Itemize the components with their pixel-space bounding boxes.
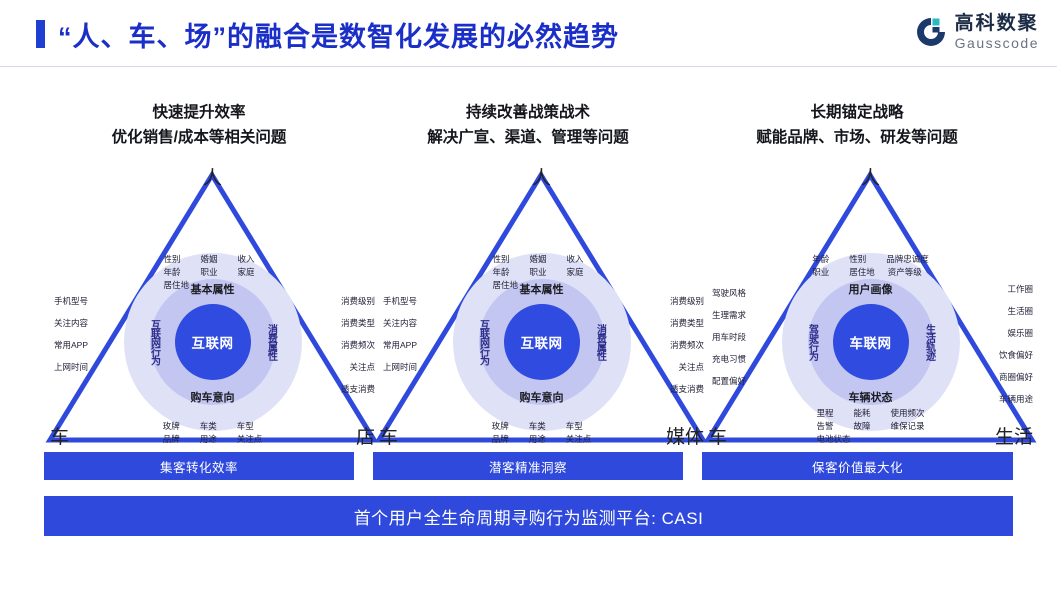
- sat-text: 居住地: [849, 266, 875, 279]
- heading-2-line-2: 解决广宣、渠道、管理等问题: [373, 125, 683, 150]
- sat-text: 职业: [530, 266, 554, 279]
- sat-text: 车型: [237, 420, 261, 433]
- result-bar-1: 集客转化效率: [44, 452, 354, 480]
- sat-text: 品牌忠诚度: [886, 253, 929, 266]
- heading-3-line-1: 长期锚定战略: [810, 104, 903, 121]
- ring-label-right-3: 生活轨迹: [922, 324, 937, 360]
- sat-text: 品牌: [492, 433, 516, 446]
- heading-3-line-2: 赋能品牌、市场、研发等问题: [702, 125, 1012, 150]
- logo-chinese-name: 高科数聚: [955, 14, 1039, 33]
- satellites-top-3: 年龄性别品牌忠诚度 职业居住地资产等级: [812, 253, 929, 279]
- ring-label-bottom-1: 购车意向: [191, 389, 235, 405]
- panel-2: 人 车 媒体 互联网+车 互联网 基本属性 购车意向 互联网行为 消费属性 性别…: [373, 165, 710, 450]
- triangle-1-corner-top: 人: [203, 163, 222, 190]
- sat-text: 维保记录: [890, 420, 924, 433]
- panel-3: 人 车 生活 互联网+车 车联网 用户画像 车辆状态 驾驶行为 生活轨迹 年龄性…: [702, 165, 1039, 450]
- sat-text: 用途: [200, 433, 224, 446]
- column-heading-2: 持续改善战策战术 解决广宣、渠道、管理等问题: [373, 100, 683, 150]
- result-bar-2: 潜客精准洞察: [373, 452, 683, 480]
- sat-text: 用车时段: [712, 331, 746, 344]
- column-heading-3: 长期锚定战略 赋能品牌、市场、研发等问题: [702, 100, 1012, 150]
- sat-text: 电池状态: [816, 433, 850, 446]
- platform-banner: 首个用户全生命周期寻购行为监测平台: CASI: [44, 496, 1013, 536]
- sat-text: 关注点: [341, 361, 375, 374]
- sat-text: 故障: [853, 420, 877, 433]
- sat-text: 告警: [816, 420, 840, 433]
- satellites-top-2: 性别婚姻收入 年龄职业家庭 居住地: [493, 253, 591, 292]
- ring-core-label-2: 互联网: [521, 332, 563, 352]
- ring-diagram-3: 互联网+车 车联网 用户画像 车辆状态 驾驶行为 生活轨迹: [782, 253, 960, 431]
- sat-text: 玫牌: [163, 420, 187, 433]
- brand-logo: 高科数聚 Gausscode: [914, 14, 1039, 50]
- sat-text: 手机型号: [383, 295, 417, 308]
- result-bar-3: 保客价值最大化: [702, 452, 1013, 480]
- sat-text: 职业: [201, 266, 225, 279]
- satellites-bottom-1: 玫牌车类车型 品牌用途关注点: [163, 420, 263, 446]
- sat-text: 里程: [816, 407, 840, 420]
- page-title: “人、车、场”的融合是数智化发展的必然趋势: [58, 15, 619, 54]
- sat-text: 性别: [493, 253, 517, 266]
- sat-text: 手机型号: [54, 295, 88, 308]
- title-accent-bar: [36, 20, 45, 48]
- sat-text: 关注内容: [54, 317, 88, 330]
- sat-text: 消费级别: [670, 295, 704, 308]
- gausscode-g-icon: [914, 15, 948, 49]
- sat-text: 用途: [529, 433, 553, 446]
- satellites-bottom-3: 里程能耗使用频次 告警故障维保记录 电池状态: [816, 407, 924, 446]
- heading-2-line-1: 持续改善战策战术: [466, 104, 590, 121]
- sat-text: 家庭: [567, 266, 591, 279]
- ring-label-left-3: 驾驶行为: [805, 324, 820, 360]
- ring-label-left-2: 互联网行为: [476, 320, 491, 365]
- sat-text: 居住地: [493, 279, 519, 292]
- satellites-left-3: 驾驶风格 生理需求 用车时段 充电习惯 配置偏好: [712, 287, 746, 397]
- heading-1-line-1: 快速提升效率: [152, 104, 245, 121]
- sat-text: 生活圈: [999, 305, 1033, 318]
- triangle-3-corner-top: 人: [861, 163, 880, 190]
- triangle-3-corner-bottom-left: 车: [708, 422, 727, 449]
- sat-text: 消费频次: [341, 339, 375, 352]
- ring-core-label-3: 车联网: [850, 332, 892, 352]
- ring-label-top-3: 用户画像: [849, 281, 893, 297]
- sat-text: 透支消费: [670, 383, 704, 396]
- sat-text: 性别: [849, 253, 873, 266]
- column-heading-1: 快速提升效率 优化销售/成本等相关问题: [44, 100, 354, 150]
- sat-text: 车辆用途: [999, 393, 1033, 406]
- ring-label-left-1: 互联网行为: [147, 320, 162, 365]
- satellites-left-1: 手机型号 关注内容 常用APP 上网时间: [54, 295, 88, 383]
- sat-text: 娱乐圈: [999, 327, 1033, 340]
- satellites-left-2: 手机型号 关注内容 常用APP 上网时间: [383, 295, 417, 383]
- sat-text: 饮食偏好: [999, 349, 1033, 362]
- sat-text: 婚姻: [530, 253, 554, 266]
- satellites-top-1: 性别婚姻收入 年龄职业家庭 居住地: [164, 253, 262, 292]
- sat-text: 玫牌: [492, 420, 516, 433]
- sat-text: 收入: [238, 253, 262, 266]
- sat-text: 消费频次: [670, 339, 704, 352]
- satellites-right-3: 工作圈 生活圈 娱乐圈 饮食偏好 商圈偏好 车辆用途: [999, 283, 1033, 415]
- sat-text: 车类: [200, 420, 224, 433]
- sat-text: 车类: [529, 420, 553, 433]
- sat-text: 配置偏好: [712, 375, 746, 388]
- satellites-right-2: 消费级别 消费类型 消费频次 关注点 透支消费: [670, 295, 704, 405]
- sat-text: 生理需求: [712, 309, 746, 322]
- panel-1: 人 车 店 互联网+车 互联网 基本属性 购车意向 互联网行为 消费属性 性别婚…: [44, 165, 381, 450]
- ring-label-bottom-2: 购车意向: [520, 389, 564, 405]
- triangle-2-corner-bottom-left: 车: [379, 422, 398, 449]
- ring-core-label-1: 互联网: [192, 332, 234, 352]
- sat-text: 品牌: [163, 433, 187, 446]
- sat-text: 年龄: [493, 266, 517, 279]
- heading-1-line-2: 优化销售/成本等相关问题: [44, 125, 354, 150]
- sat-text: 消费级别: [341, 295, 375, 308]
- sat-text: 收入: [567, 253, 591, 266]
- sat-text: 性别: [164, 253, 188, 266]
- sat-text: 上网时间: [54, 361, 88, 374]
- sat-text: 居住地: [164, 279, 190, 292]
- sat-text: 常用APP: [54, 339, 88, 352]
- triangle-3-corner-bottom-right: 生活: [995, 422, 1033, 449]
- page-header: “人、车、场”的融合是数智化发展的必然趋势 高科数聚 Gausscode: [0, 0, 1057, 66]
- sat-text: 资产等级: [888, 266, 922, 279]
- sat-text: 充电习惯: [712, 353, 746, 366]
- sat-text: 使用频次: [890, 407, 924, 420]
- sat-text: 关注点: [566, 433, 592, 446]
- ring-label-right-1: 消费属性: [264, 324, 279, 360]
- sat-text: 透支消费: [341, 383, 375, 396]
- sat-text: 上网时间: [383, 361, 417, 374]
- ring-core-2: 互联网: [504, 304, 580, 380]
- sat-text: 关注内容: [383, 317, 417, 330]
- triangle-2-corner-bottom-right: 媒体: [666, 422, 704, 449]
- sat-text: 年龄: [812, 253, 836, 266]
- sat-text: 关注点: [670, 361, 704, 374]
- sat-text: 能耗: [853, 407, 877, 420]
- ring-core-1: 互联网: [175, 304, 251, 380]
- sat-text: 常用APP: [383, 339, 417, 352]
- sat-text: 职业: [812, 266, 836, 279]
- triangle-1-corner-bottom-left: 车: [50, 422, 69, 449]
- sat-text: 年龄: [164, 266, 188, 279]
- satellites-right-1: 消费级别 消费类型 消费频次 关注点 透支消费: [341, 295, 375, 405]
- ring-label-right-2: 消费属性: [593, 324, 608, 360]
- logo-english-name: Gausscode: [955, 36, 1039, 50]
- header-divider: [0, 66, 1057, 67]
- ring-label-bottom-3: 车辆状态: [849, 389, 893, 405]
- sat-text: 关注点: [237, 433, 263, 446]
- sat-text: 婚姻: [201, 253, 225, 266]
- sat-text: 驾驶风格: [712, 287, 746, 300]
- sat-text: 消费类型: [670, 317, 704, 330]
- satellites-bottom-2: 玫牌车类车型 品牌用途关注点: [492, 420, 592, 446]
- sat-text: 工作圈: [999, 283, 1033, 296]
- sat-text: 商圈偏好: [999, 371, 1033, 384]
- sat-text: 家庭: [238, 266, 262, 279]
- sat-text: 消费类型: [341, 317, 375, 330]
- sat-text: 车型: [566, 420, 590, 433]
- ring-core-3: 车联网: [833, 304, 909, 380]
- triangle-2-corner-top: 人: [532, 163, 551, 190]
